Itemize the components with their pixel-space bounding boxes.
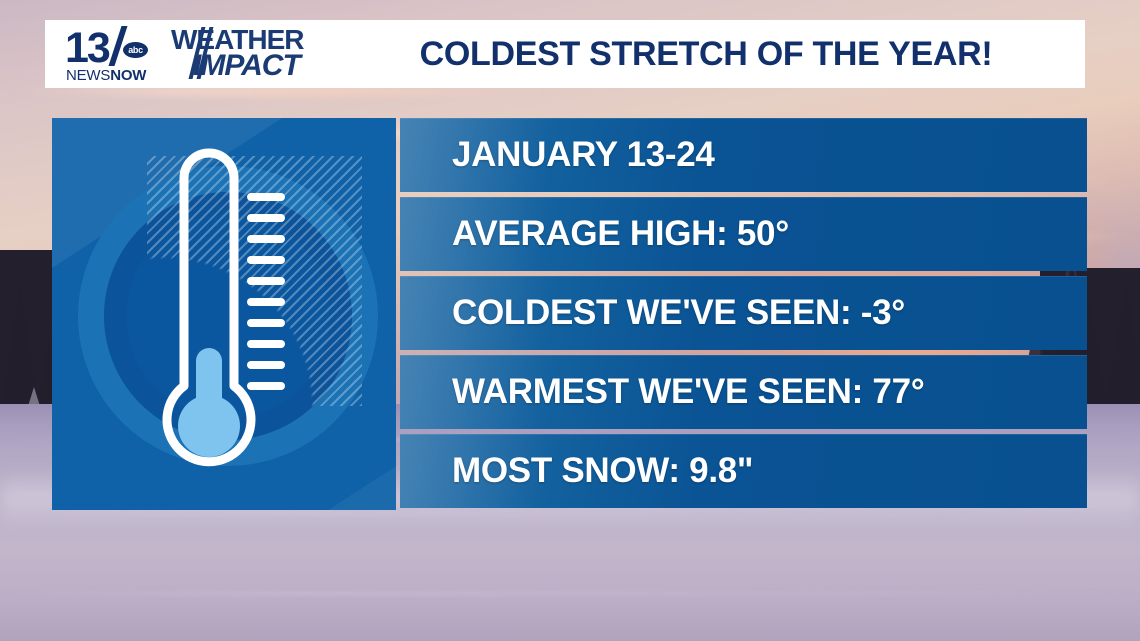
stat-row-label: JANUARY 13-24 xyxy=(400,135,715,175)
logo-newsnow: NEWSNOW xyxy=(66,67,146,84)
thermometer-panel xyxy=(52,118,396,510)
weather-impact-line2: IMPACT xyxy=(193,51,300,81)
thermometer-icon xyxy=(144,148,319,488)
stat-row-label: WARMEST WE'VE SEEN: 77° xyxy=(400,372,924,412)
stat-row: WARMEST WE'VE SEEN: 77° xyxy=(400,355,1087,429)
stat-row: JANUARY 13-24 xyxy=(400,118,1087,192)
abc-badge: abc xyxy=(123,42,148,58)
stat-row-label: AVERAGE HIGH: 50° xyxy=(400,214,789,254)
ground-line xyxy=(0,592,1140,595)
logo-number: 13 xyxy=(65,24,109,73)
stat-row-label: COLDEST WE'VE SEEN: -3° xyxy=(400,293,905,333)
weather-impact-logo[interactable]: WEATHER IMPACT xyxy=(171,25,357,83)
stat-row: COLDEST WE'VE SEEN: -3° xyxy=(400,276,1087,350)
ground-line xyxy=(0,512,1140,515)
stat-row-label: MOST SNOW: 9.8" xyxy=(400,451,753,491)
stat-row: MOST SNOW: 9.8" xyxy=(400,434,1087,508)
stat-row: AVERAGE HIGH: 50° xyxy=(400,197,1087,271)
header-bar: 13 abc NEWSNOW WEATHER IMPACT COLDEST ST… xyxy=(45,20,1085,88)
station-logo-13newsnow[interactable]: 13 abc NEWSNOW xyxy=(65,25,161,83)
stat-rows: JANUARY 13-24 AVERAGE HIGH: 50° COLDEST … xyxy=(400,118,1087,508)
headline-title: COLDEST STRETCH OF THE YEAR! xyxy=(357,35,1085,74)
